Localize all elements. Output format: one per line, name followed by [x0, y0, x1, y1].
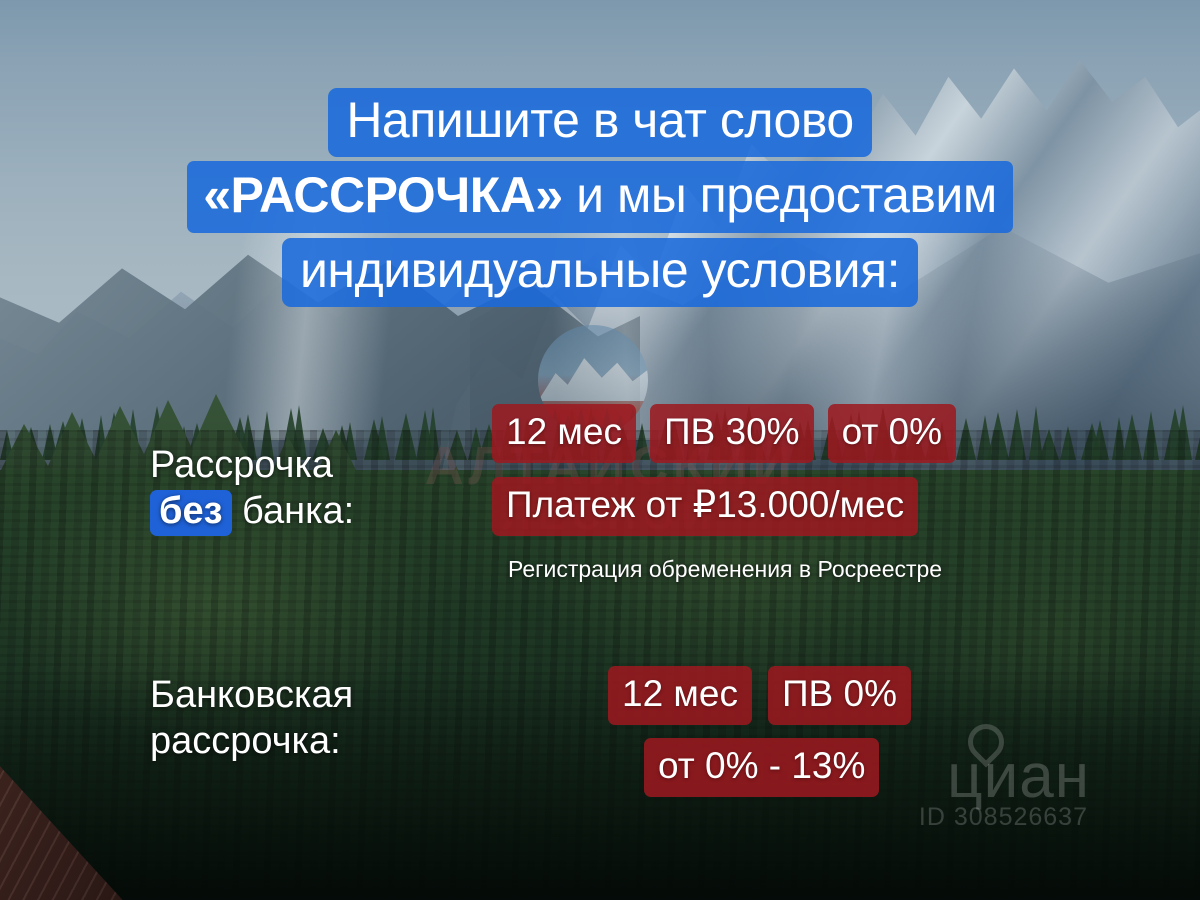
cian-watermark: циан	[947, 746, 1090, 808]
offer-1-badge-monthly-payment: Платеж от ₽13.000/мес	[492, 477, 918, 536]
headline-line-1: Напишите в чат слово	[328, 88, 871, 157]
offer-1-badge-downpayment: ПВ 30%	[650, 404, 814, 463]
offer-1-label-line2: без банка:	[150, 488, 354, 536]
headline: Напишите в чат слово «РАССРОЧКА» и мы пр…	[0, 88, 1200, 307]
offer-2-badge-downpayment: ПВ 0%	[768, 666, 911, 725]
offer-2-badges-row-1: 12 мес ПВ 0%	[608, 666, 911, 725]
offer-2-badges-row-2: от 0% - 13%	[644, 738, 879, 797]
headline-keyword: «РАССРОЧКА»	[203, 167, 563, 223]
offer-2-label: Банковская рассрочка:	[150, 672, 353, 765]
headline-line-2: «РАССРОЧКА» и мы предоставим	[187, 161, 1013, 233]
offer-1-label-line1: Рассрочка	[150, 442, 354, 488]
offer-2-badge-term: 12 мес	[608, 666, 752, 725]
headline-line-2-rest: и мы предоставим	[563, 167, 997, 223]
offer-2-badge-rate: от 0% - 13%	[644, 738, 879, 797]
offer-2-label-line2: рассрочка:	[150, 718, 353, 764]
headline-line-3: индивидуальные условия:	[282, 238, 918, 307]
promo-poster: Алтайский Лесной Напишите в чат слово «Р…	[0, 0, 1200, 900]
listing-id-watermark: ID 308526637	[919, 803, 1088, 832]
offer-2-label-line1: Банковская	[150, 672, 353, 718]
offer-1-highlight-chip: без	[150, 490, 232, 536]
offer-1-badges-row-2: Платеж от ₽13.000/мес	[492, 477, 918, 536]
offer-1-badge-rate: от 0%	[828, 404, 956, 463]
offer-1-note: Регистрация обременения в Росреестре	[508, 556, 942, 583]
offer-1-label-line2-rest: банка:	[232, 490, 355, 532]
offer-1-label: Рассрочка без банка:	[150, 442, 354, 536]
offer-1-badge-term: 12 мес	[492, 404, 636, 463]
offer-1-badges-row-1: 12 мес ПВ 30% от 0%	[492, 404, 956, 463]
